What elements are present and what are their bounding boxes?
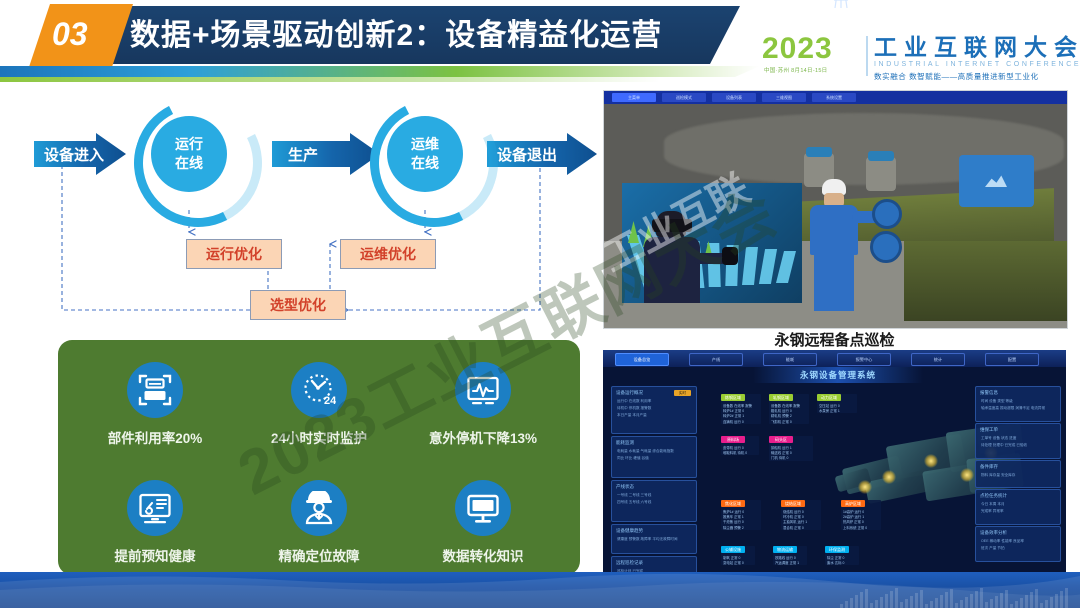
footer-wave — [0, 572, 1080, 608]
benefit-label: 数据转化知识 — [408, 545, 558, 565]
skyline-bar — [915, 593, 918, 608]
optimization-box-maintenance: 运维优化 — [340, 239, 436, 269]
vr-pillar-2 — [866, 157, 896, 191]
monitor-waveform-icon — [455, 362, 511, 418]
flow-node-maintenance-line2: 在线 — [411, 154, 439, 173]
logo-year-subtitle: 中国·苏州 8月14日-15日 — [764, 66, 828, 74]
skyline-bar — [1000, 593, 1003, 608]
map-callout-11[interactable]: 环保监测除尘 正常 0废水 达标 0 — [825, 546, 859, 565]
optimization-box-selection: 选型优化 — [250, 290, 346, 320]
eiffel-tower-icon — [828, 0, 854, 8]
callout-row: 变电站 正常 0 — [723, 560, 744, 565]
vr-tab-2[interactable]: 巡检模式 — [662, 93, 706, 102]
skyline-bar — [965, 597, 968, 608]
panel-row: 本日产量 本月产量 — [617, 413, 647, 418]
callout-row: 废水 达标 0 — [827, 560, 844, 565]
skyline-bar — [875, 600, 878, 608]
callout-row: 连铸机 运行 0 — [723, 419, 744, 424]
callout-row: 飞剪机 正常 0 — [771, 419, 792, 424]
panel-row: 完成率 异常率 — [981, 509, 1004, 514]
flow-node-running-line2: 在线 — [175, 154, 203, 173]
skyline-bar — [1045, 600, 1048, 608]
flow-arrow-mid-label: 生产 — [288, 144, 318, 165]
panel-row: 物料 库存量 安全库存 — [981, 473, 1015, 478]
benefit-label: 部件利用率20% — [80, 427, 230, 447]
callout-row: 门机 待机 0 — [771, 455, 788, 460]
dashboard-right-panel-1: 报警信息时间 设备 类型 等级轴承温度高 振动超限 润滑不足 电流异常 — [975, 386, 1061, 422]
skyline-bar — [855, 595, 858, 608]
panel-row: 轴承温度高 振动超限 润滑不足 电流异常 — [981, 406, 1045, 411]
worker-legs — [814, 253, 854, 311]
panel-row: 健康度 预警数 故障率 平均无故障时间 — [617, 537, 678, 542]
skyline-bar — [1065, 588, 1068, 608]
vr-tab-4[interactable]: 三维视图 — [762, 93, 806, 102]
map-callout-1[interactable]: 炼钢区域设备数 在线率 报警转炉1# 正常 0转炉2# 正常 1连铸机 运行 0 — [721, 394, 761, 424]
panel-header: 报警信息 — [980, 390, 998, 396]
benefit-label: 提前预知健康 — [80, 545, 230, 565]
panel-header: 备件库存 — [980, 464, 998, 470]
callout-title: 公辅设施 — [721, 546, 745, 553]
vr-screen-stripe — [759, 249, 777, 284]
benefit-label: 24小时实时监护 — [244, 427, 394, 447]
skyline-bar — [870, 603, 873, 608]
dashboard-right-panel-5: 设备效率分析OEE 稼动率 性能率 良品率班次 产量 节拍 — [975, 526, 1061, 562]
callout-title: 码头区 — [769, 436, 793, 443]
panel-row: 同比 环比 峰值 谷值 — [617, 456, 649, 461]
dashboard-tab-2[interactable]: 产线 — [689, 353, 743, 366]
skyline-bar — [1040, 603, 1043, 608]
callout-title: 烧结区域 — [781, 500, 805, 507]
dashboard-tab-4[interactable]: 报警中心 — [837, 353, 891, 366]
vr-screen-stripe — [742, 247, 758, 285]
callout-title: 焦化区域 — [721, 500, 745, 507]
skyline-bar — [990, 599, 993, 608]
skyline-bar — [1005, 590, 1008, 608]
map-hotspot-2[interactable] — [924, 454, 938, 468]
logo-name-cn: 工业互联网大会 — [874, 34, 1080, 60]
benefit-item-3: 意外停机下降13% — [408, 362, 558, 447]
map-callout-7[interactable]: 烧结区域烧结机 运行 0环冷机 正常 0主抽风机 运行 1混合机 正常 0 — [781, 500, 821, 530]
vr-equipment-wheel-2 — [870, 231, 902, 263]
dashboard-right-panel-4: 点检任务统计今日 本周 本月完成率 异常率 — [975, 489, 1061, 525]
callout-row: 混合机 正常 0 — [783, 525, 804, 530]
panel-row: 四号线 五号线 六号线 — [617, 500, 651, 505]
callout-row: 上料系统 正常 0 — [843, 525, 867, 530]
benefit-item-6: 数据转化知识 — [408, 480, 558, 565]
callout-title: 环保监测 — [825, 546, 849, 553]
map-callout-3[interactable]: 动力区域空压站 运行 0水泵房 正常 1 — [817, 394, 857, 413]
callout-row: 汽运调度 正常 1 — [775, 560, 799, 565]
map-callout-5[interactable]: 码头区卸船机 运行 1输送线 正常 0门机 待机 0 — [769, 436, 813, 461]
logo-divider — [866, 36, 868, 76]
dashboard-left-panel-1: 设备运行概况实时运行中 在线数 利用率待机中 停机数 报警数本日产量 本月产量 — [611, 386, 697, 434]
map-callout-4[interactable]: 原料场皮带机 运行 0堆取料机 待机 0 — [721, 436, 759, 455]
conference-logo: 2023 中国·苏州 8月14日-15日 工业互联网大会 INDUSTRIAL … — [762, 34, 1074, 84]
skyline-bar — [985, 602, 988, 608]
scan-equipment-icon — [127, 362, 183, 418]
vr-controller-icon — [722, 247, 738, 265]
callout-title: 物流运输 — [773, 546, 797, 553]
panel-header: 点检任务统计 — [980, 493, 1007, 499]
skyline-bar — [955, 603, 958, 608]
display-screen-icon — [455, 480, 511, 536]
map-callout-8[interactable]: 高炉区域1#高炉 运行 02#高炉 运行 1热风炉 正常 0上料系统 正常 0 — [841, 500, 881, 530]
mountain-icon — [985, 173, 1007, 187]
map-callout-2[interactable]: 轧钢区域设备数 在线率 报警粗轧机 运行 0精轧机 预警 2飞剪机 正常 0 — [769, 394, 809, 424]
logo-name-en: INDUSTRIAL INTERNET CONFERENCE — [874, 61, 1080, 68]
header-accent-strip-2 — [0, 77, 660, 82]
clock-24h-icon: 24 — [291, 362, 347, 418]
map-hotspot-3[interactable] — [960, 468, 974, 482]
panel-row: 运行中 在线数 利用率 — [617, 399, 651, 404]
callout-title: 炼钢区域 — [721, 394, 745, 401]
panel-row: 一号线 二号线 三号线 — [617, 493, 651, 498]
dashboard-tab-6[interactable]: 配置 — [985, 353, 1039, 366]
skyline-bar — [905, 599, 908, 608]
flow-node-running-online: 运行 在线 — [134, 99, 244, 209]
flow-node-maintenance-line1: 运维 — [411, 135, 439, 154]
panel-row: 电耗量 水耗量 气耗量 综合能耗指数 — [617, 449, 674, 454]
skyline-bar — [970, 594, 973, 608]
header-accent-strip — [0, 66, 760, 77]
flow-arrow-in-label: 设备进入 — [44, 144, 104, 165]
dashboard-tab-5[interactable]: 统计 — [911, 353, 965, 366]
panel-row: 班次 产量 节拍 — [981, 546, 1005, 551]
skyline-bar — [935, 598, 938, 608]
skyline-bar — [960, 600, 963, 608]
skyline-bar — [895, 588, 898, 608]
callout-title: 动力区域 — [817, 394, 841, 401]
dashboard-left-panel-2: 能耗监测电耗量 水耗量 气耗量 综合能耗指数同比 环比 峰值 谷值 — [611, 436, 697, 478]
skyline-bar — [1055, 594, 1058, 608]
panel-row: 时间 设备 类型 等级 — [981, 399, 1013, 404]
map-callout-6[interactable]: 焦化区域焦炉1# 运行 0推焦车 正常 1干熄焦 运行 0除尘器 预警 2 — [721, 500, 761, 530]
skyline-bar — [890, 591, 893, 608]
skyline-bar — [1010, 604, 1013, 608]
panel-row: 今日 本周 本月 — [981, 502, 1005, 507]
panel-header: 维保工单 — [980, 427, 998, 433]
panel-row: OEE 稼动率 性能率 良品率 — [981, 539, 1024, 544]
skyline-bar — [900, 602, 903, 608]
benefit-label: 精确定位故障 — [244, 545, 394, 565]
callout-row: 除尘器 预警 2 — [723, 525, 744, 530]
dashboard-left-panel-4: 设备健康趋势健康度 预警数 故障率 平均无故障时间 — [611, 524, 697, 554]
map-hotspot-1[interactable] — [882, 470, 896, 484]
vr-photo-caption: 永钢远程备点巡检 — [603, 329, 1066, 349]
callout-title: 轧钢区域 — [769, 394, 793, 401]
flow-node-maintenance-core: 运维 在线 — [387, 116, 463, 192]
panel-header: 设备运行概况 — [616, 390, 643, 396]
svg-text:24: 24 — [324, 395, 336, 407]
skyline-bar — [920, 590, 923, 608]
flow-node-running-core: 运行 在线 — [151, 116, 227, 192]
panel-row: 待机中 停机数 报警数 — [617, 406, 651, 411]
dashboard-tab-1[interactable]: 设备总览 — [615, 353, 669, 366]
skyline-bar — [1060, 591, 1063, 608]
panel-badge: 实时 — [674, 390, 691, 396]
panel-header: 设备效率分析 — [980, 530, 1007, 536]
benefits-panel: 部件利用率20%2424小时实时监护意外停机下降13%提前预知健康精确定位故障数… — [58, 340, 580, 575]
flow-node-maintenance-online: 运维 在线 — [370, 99, 480, 209]
skyline-bar — [850, 598, 853, 608]
panel-header: 设备健康趋势 — [616, 528, 643, 534]
skyline-bar — [1035, 589, 1038, 608]
wrench-report-icon — [127, 480, 183, 536]
vr-tab-1[interactable]: 主菜单 — [612, 93, 656, 102]
skyline-bar — [1030, 592, 1033, 608]
skyline-bar — [950, 589, 953, 608]
vr-inspection-photo: 主菜单巡检模式设备列表三维视图系统设置 工业互联 — [603, 90, 1068, 329]
callout-title: 高炉区域 — [841, 500, 865, 507]
callout-row: 水泵房 正常 1 — [819, 408, 840, 413]
panel-row: 工单号 设备 状态 进度 — [981, 436, 1016, 441]
dashboard-right-panel-2: 维保工单工单号 设备 状态 进度待处理 处理中 已完成 已验收 — [975, 423, 1061, 459]
panel-header: 产线状态 — [616, 484, 634, 490]
worker-torso — [810, 205, 858, 255]
callout-row: 堆取料机 待机 0 — [723, 450, 747, 455]
vr-tab-5[interactable]: 系统设置 — [812, 93, 856, 102]
panel-row: 待处理 处理中 已完成 已验收 — [981, 443, 1027, 448]
skyline-bar — [840, 604, 843, 608]
skyline-bar — [995, 596, 998, 608]
dashboard-title: 永钢设备管理系统 — [753, 367, 923, 383]
skyline-bar — [865, 589, 868, 608]
flow-node-running-line1: 运行 — [175, 135, 203, 154]
benefit-item-5: 精确定位故障 — [244, 480, 394, 565]
skyline-bar — [940, 595, 943, 608]
callout-title: 原料场 — [721, 436, 745, 443]
vr-tab-3[interactable]: 设备列表 — [712, 93, 756, 102]
equipment-lifecycle-flow: 设备进入 生产 设备退出 运行 在线 运维 在线 运行优化 运维优化 选型优化 — [0, 92, 600, 332]
dashboard-tab-3[interactable]: 能耗 — [763, 353, 817, 366]
vr-screen-stripe — [776, 251, 796, 283]
map-callout-10[interactable]: 物流运输铁路线 运行 0汽运调度 正常 1 — [773, 546, 807, 565]
optimization-box-run: 运行优化 — [186, 239, 282, 269]
skyline-bar — [880, 597, 883, 608]
vr-wall-panel — [959, 155, 1034, 207]
vr-equipment-wheel-1 — [872, 199, 902, 229]
logo-tagline: 数实融合 数智赋能——高质量推进新型工业化 — [874, 71, 1039, 82]
skyline-bar — [980, 588, 983, 608]
map-callout-9[interactable]: 公辅设施制氧 正常 0变电站 正常 0 — [721, 546, 755, 565]
skyline-bar — [1050, 597, 1053, 608]
skyline-bar — [860, 592, 863, 608]
dashboard-left-panel-3: 产线状态一号线 二号线 三号线四号线 五号线 六号线 — [611, 480, 697, 522]
skyline-bar — [930, 601, 933, 608]
vr-platform-shape-2 — [904, 241, 1068, 321]
section-number-label: 03 — [52, 16, 88, 53]
map-hotspot-5[interactable] — [858, 480, 872, 494]
benefit-item-4: 提前预知健康 — [80, 480, 230, 565]
vr-app-tabbar: 主菜单巡检模式设备列表三维视图系统设置 — [604, 91, 1067, 104]
dashboard-right-panel-3: 备件库存物料 库存量 安全库存 — [975, 460, 1061, 488]
skyline-bar — [945, 592, 948, 608]
skyline-bar — [925, 604, 928, 608]
skyline-bar — [1015, 601, 1018, 608]
benefit-item-1: 部件利用率20% — [80, 362, 230, 447]
page-title: 数据+场景驱动创新2：设备精益化运营 — [130, 14, 730, 58]
skyline-bar — [975, 591, 978, 608]
skyline-bar — [885, 594, 888, 608]
flow-arrow-out-label: 设备退出 — [497, 144, 557, 165]
skyline-bar — [910, 596, 913, 608]
slide-footer — [0, 572, 1080, 608]
panel-header: 能耗监测 — [616, 440, 634, 446]
worker-helmet-icon — [291, 480, 347, 536]
equipment-management-dashboard: 永钢设备管理系统 设备总览产线能耗报警中心统计配置设备运行概况实时运行中 在线数… — [603, 350, 1066, 575]
benefit-item-2: 2424小时实时监护 — [244, 362, 394, 447]
skyline-bar — [1020, 598, 1023, 608]
skyline-bar — [845, 601, 848, 608]
panel-header: 远程巡检记录 — [616, 560, 643, 566]
logo-year: 2023 — [762, 34, 833, 64]
skyline-bar — [1025, 595, 1028, 608]
benefit-label: 意外停机下降13% — [408, 427, 558, 447]
